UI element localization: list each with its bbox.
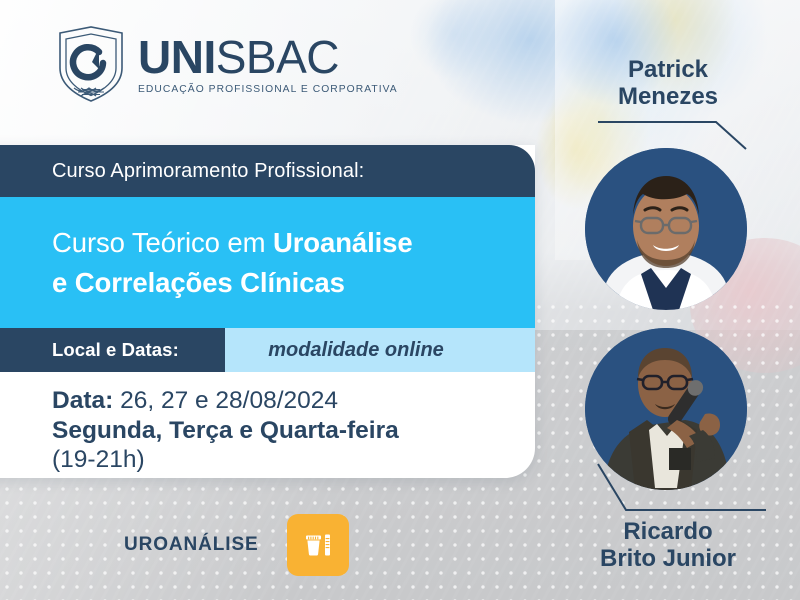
presenter-photo-patrick-menezes	[585, 148, 747, 310]
course-title-light: Curso Teórico em	[52, 227, 273, 258]
date-weekdays: Segunda, Terça e Quarta-feira	[52, 417, 399, 444]
date-time: (19-21h)	[52, 446, 145, 473]
subject-label: UROANÁLISE	[124, 534, 259, 556]
presenter-name-top: Patrick Menezes	[548, 56, 788, 111]
logo-word: UNISBAC	[138, 35, 398, 80]
course-promo-banner: UNISBAC EDUCAÇÃO PROFISSIONAL E CORPORAT…	[0, 0, 800, 600]
presenter-top-rule	[596, 104, 786, 152]
dates-block: Data: 26, 27 e 28/08/2024 Segunda, Terça…	[52, 386, 399, 475]
local-dates-strip: Local e Datas: modalidade online	[0, 328, 535, 372]
date-label: Data:	[52, 387, 113, 414]
date-row-2: Segunda, Terça e Quarta-feira	[52, 416, 399, 446]
presenter-name-bottom-line2: Brito Junior	[548, 545, 788, 572]
date-row-1: Data: 26, 27 e 28/08/2024	[52, 386, 399, 416]
presenter-name-bottom-line1: Ricardo	[548, 518, 788, 545]
logo-wordmark: UNISBAC EDUCAÇÃO PROFISSIONAL E CORPORAT…	[138, 35, 398, 95]
shield-dna-a-emblem-icon	[54, 24, 128, 106]
course-kicker-band: Curso Aprimoramento Profissional:	[0, 145, 535, 197]
date-value: 26, 27 e 28/08/2024	[113, 387, 338, 414]
course-kicker-text: Curso Aprimoramento Profissional:	[52, 160, 364, 183]
presenter-name-bottom: Ricardo Brito Junior	[548, 518, 788, 573]
local-dates-value: modalidade online	[225, 328, 535, 372]
date-row-3: (19-21h)	[52, 445, 399, 475]
logo-tagline: EDUCAÇÃO PROFISSIONAL E CORPORATIVA	[138, 84, 398, 95]
course-title-bold-2: e Correlações Clínicas	[52, 267, 345, 298]
logo-word-sbac: SBAC	[216, 31, 339, 83]
unisbac-logo: UNISBAC EDUCAÇÃO PROFISSIONAL E CORPORAT…	[54, 24, 398, 106]
presenter-bottom-rule	[596, 462, 786, 522]
course-title-line-2: e Correlações Clínicas	[52, 263, 535, 302]
course-title-band: Curso Teórico em Uroanálise e Correlaçõe…	[0, 197, 535, 328]
logo-word-uni: UNI	[138, 31, 216, 83]
presenter-name-top-line1: Patrick	[548, 56, 788, 83]
urine-cup-test-strip-icon	[287, 514, 349, 576]
course-title-line-1: Curso Teórico em Uroanálise	[52, 223, 535, 262]
local-dates-label: Local e Datas:	[0, 328, 225, 372]
course-title-bold-1: Uroanálise	[273, 227, 413, 258]
subject-bar: UROANÁLISE	[0, 500, 545, 590]
